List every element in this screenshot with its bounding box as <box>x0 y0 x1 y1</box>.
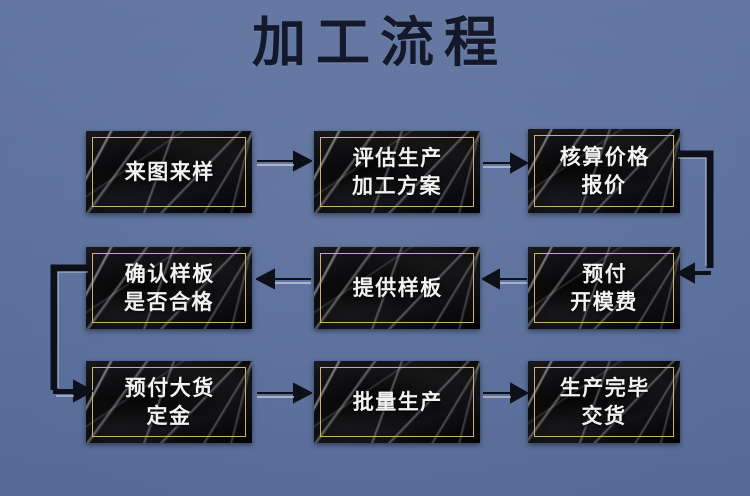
elbow-node3-to-node6 <box>676 146 750 296</box>
flow-node-label: 确认样板 是否合格 <box>86 260 252 316</box>
flow-node-5[interactable]: 提供样板 <box>314 247 480 329</box>
arrow-node5-to-node4 <box>256 266 312 292</box>
page-title: 加工流程 <box>0 4 750 82</box>
flow-node-label: 生产完毕 交货 <box>528 374 680 430</box>
flow-node-2[interactable]: 评估生产 加工方案 <box>314 131 480 213</box>
flow-node-label: 预付大货 定金 <box>86 374 252 430</box>
flow-node-label: 提供样板 <box>314 274 480 302</box>
flow-node-8[interactable]: 批量生产 <box>314 361 480 443</box>
flow-node-9[interactable]: 生产完毕 交货 <box>528 361 680 443</box>
flow-node-label: 核算价格 报价 <box>528 143 680 199</box>
flow-node-3[interactable]: 核算价格 报价 <box>528 129 680 213</box>
flow-node-7[interactable]: 预付大货 定金 <box>86 361 252 443</box>
flow-node-4[interactable]: 确认样板 是否合格 <box>86 247 252 329</box>
arrow-node1-to-node2 <box>256 148 312 174</box>
arrow-node7-to-node8 <box>256 380 312 406</box>
flow-node-label: 来图来样 <box>86 158 252 186</box>
flowchart-canvas: 加工流程 来图来样 评估生产 加工方案 核算价格 报价 确认样板 是否合格 提供… <box>0 0 750 496</box>
flow-node-label: 预付 开模费 <box>528 260 680 316</box>
arrow-node8-to-node9 <box>482 380 528 406</box>
arrow-node6-to-node5 <box>482 266 528 292</box>
flow-node-6[interactable]: 预付 开模费 <box>528 247 680 329</box>
flow-node-label: 评估生产 加工方案 <box>314 144 480 200</box>
flow-node-1[interactable]: 来图来样 <box>86 131 252 213</box>
flow-node-label: 批量生产 <box>314 388 480 416</box>
arrow-node2-to-node3 <box>482 150 528 176</box>
